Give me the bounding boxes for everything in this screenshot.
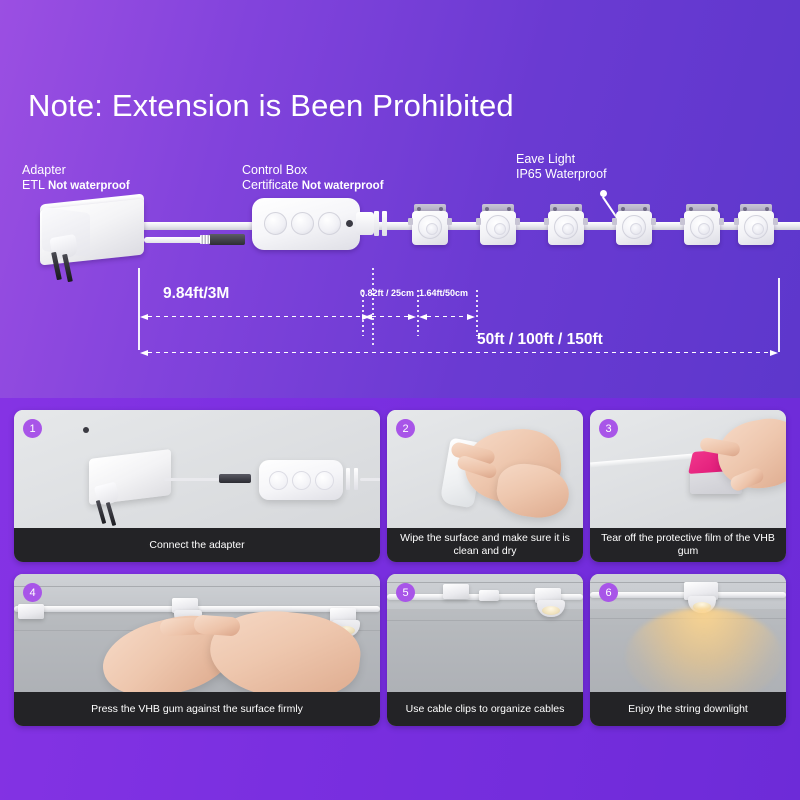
eave-lens [486,215,510,239]
photo-cable-clip-1 [443,584,469,599]
control-box-button-1 [264,212,287,235]
dim-label-first-offset: 0.82ft / 25cm [360,288,414,298]
photo-soffit-line [387,582,583,583]
eave-housing [548,211,584,245]
eave-light-module [736,204,776,246]
dim-shaft [148,352,770,354]
dim-ref-line-c [476,290,478,336]
callout-adapter-sub-bold: Not waterproof [48,180,130,192]
step-badge-3: 3 [599,419,618,438]
dim-label-light-spacing: 1.64ft/50cm [419,288,468,298]
arrowhead-right-icon [770,350,778,356]
dim-shaft [427,316,467,318]
eave-tab-left [612,218,617,225]
photo-cb-rib-2 [354,468,358,490]
eave-tab-right [583,218,588,225]
dim-arrow-light-spacing [419,313,475,320]
control-box-illustration [252,198,402,256]
dim-arrow-total-length [140,349,778,356]
eave-tab-left [408,218,413,225]
eave-housing [684,211,720,245]
eave-lens [554,215,578,239]
control-box-led-icon [346,220,353,227]
step-caption-4: Press the VHB gum against the surface fi… [14,692,380,726]
step-photo-3 [590,410,786,528]
eave-lens [622,215,646,239]
photo-light-module-3 [18,604,44,619]
step-panel-5[interactable]: 5 Use cable clips to organize cables [387,574,583,726]
step-badge-6: 6 [599,583,618,602]
step-badge-4: 4 [23,583,42,602]
step-photo-1 [14,410,380,528]
step-photo-2 [387,410,583,528]
step-photo-6 [590,574,786,692]
dim-ref-line-cable-end [372,268,374,346]
step-caption-5: Use cable clips to organize cables [387,692,583,726]
dc-barrel-plug [209,234,245,245]
control-box-button-2 [291,212,314,235]
eave-lens [744,215,768,239]
arrowhead-left-icon [419,314,427,320]
arrowhead-right-icon [408,314,416,320]
dim-shaft [372,316,408,318]
callout-adapter-sub: ETL Not waterproof [22,178,130,194]
dim-label-total-length: 50ft / 100ft / 150ft [477,331,603,349]
control-box-button-3 [318,212,341,235]
step-caption-2: Wipe the surface and make sure it is cle… [387,528,583,562]
infographic-page: Note: Extension is Been Prohibited Adapt… [0,0,800,800]
eave-lens [690,215,714,239]
callout-control-box: Control Box Certificate Not waterproof [242,163,384,194]
arrowhead-left-icon [140,314,148,320]
callout-control-title: Control Box [242,163,384,178]
photo-soffit-line [387,620,583,621]
photo-cb-button-2 [292,471,311,490]
arrowhead-right-icon [467,314,475,320]
headline-note: Note: Extension is Been Prohibited [28,88,514,124]
eave-tab-left [476,218,481,225]
control-box-strain-rib-2 [382,211,387,236]
callout-adapter-sub-prefix: ETL [22,178,48,192]
dim-arrow-cable-length [140,313,370,320]
callout-control-sub: Certificate Not waterproof [242,178,384,194]
arrowhead-left-icon [140,350,148,356]
installation-steps-section: 1 Connect [0,398,800,800]
control-box-neck [356,212,374,235]
step-panel-2[interactable]: 2 Wipe the surface and make sure it is c… [387,410,583,562]
eave-housing [738,211,774,245]
eave-lens [418,215,442,239]
eave-tab-left [734,218,739,225]
photo-adapter-cable [164,478,219,481]
step-badge-1: 1 [23,419,42,438]
dim-label-cable-length: 9.84ft/3M [163,285,229,303]
step-badge-2: 2 [396,419,415,438]
step-caption-6: Enjoy the string downlight [590,692,786,726]
eave-light-module [614,204,654,246]
callout-control-sub-prefix: Certificate [242,178,302,192]
callout-adapter: Adapter ETL Not waterproof [22,163,130,194]
photo-cb-outgoing-cable [360,478,380,481]
callout-eave-title: Eave Light [516,152,607,167]
dim-arrow-first-offset [364,313,416,320]
photo-cable-clip-2 [479,590,499,601]
step-caption-1: Connect the adapter [14,528,380,562]
eave-light-module [546,204,586,246]
photo-dc-plug [219,474,251,483]
step-panel-6[interactable]: 6 Enjoy the string downlight [590,574,786,726]
eave-tab-right [515,218,520,225]
dim-ref-line-right [778,278,780,352]
callout-eave-light: Eave Light IP65 Waterproof [516,152,607,182]
callout-control-sub-bold: Not waterproof [302,180,384,192]
eave-housing [616,211,652,245]
photo-soffit-line [14,586,380,587]
eave-tab-right [651,218,656,225]
arrowhead-left-icon [364,314,372,320]
step-panel-3[interactable]: 3 Tear off the protective film of the VH… [590,410,786,562]
photo-cb-button-3 [315,471,334,490]
eave-tab-right [773,218,778,225]
step-photo-4 [14,574,380,692]
callout-adapter-title: Adapter [22,163,130,178]
callout-eave-sub: IP65 Waterproof [516,167,607,182]
control-box-strain-rib-1 [374,211,379,236]
eave-tab-left [680,218,685,225]
photo-cb-led-icon [83,427,89,433]
eave-light-module [682,204,722,246]
photo-finger-right-index [193,614,240,636]
step-badge-5: 5 [396,583,415,602]
eave-light-module [410,204,450,246]
photo-cb-rib-1 [346,468,350,490]
eave-tab-right [719,218,724,225]
eave-tab-left [544,218,549,225]
adapter-illustration [18,196,148,288]
photo-downlight-lens [542,606,560,615]
steps-grid: 1 Connect [14,410,786,726]
step-panel-1[interactable]: 1 Connect [14,410,380,562]
eave-light-module [478,204,518,246]
photo-cb-button-1 [269,471,288,490]
eave-housing [480,211,516,245]
step-caption-3: Tear off the protective film of the VHB … [590,528,786,562]
dim-shaft [148,316,362,318]
step-photo-5 [387,574,583,692]
product-diagram-section: Note: Extension is Been Prohibited Adapt… [0,0,800,398]
step-panel-4[interactable]: 4 Press the VHB gum [14,574,380,726]
eave-tab-right [447,218,452,225]
dim-ref-line-left [138,268,140,350]
eave-housing [412,211,448,245]
